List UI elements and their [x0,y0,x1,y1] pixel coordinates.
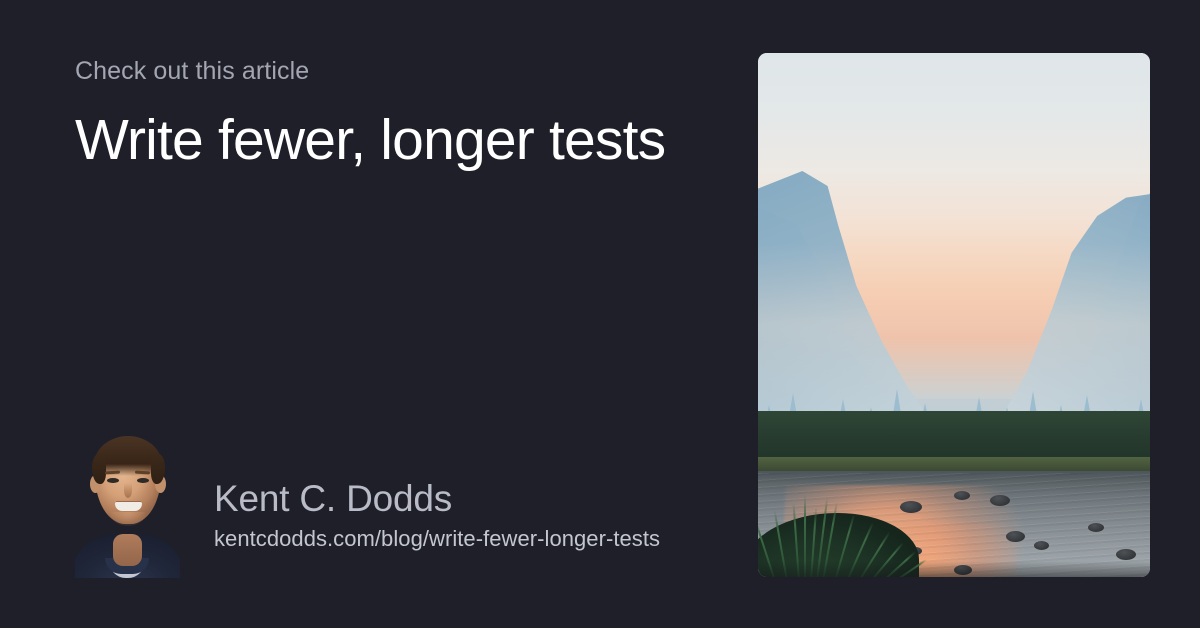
eyebrow-label: Check out this article [75,56,715,87]
author-name: Kent C. Dodds [214,478,660,519]
hero-image [758,53,1150,577]
avatar [75,428,180,578]
river-rock [990,495,1010,506]
social-share-card: Check out this article Write fewer, long… [0,0,1200,628]
portrait-chin [110,512,146,526]
image-bottom-vignette [758,561,1150,577]
portrait-nose [124,483,132,498]
river-rock [954,491,970,500]
portrait-eye-left [107,478,119,483]
river-rock [1116,549,1136,560]
author-portrait-illustration [75,428,180,578]
article-title: Write fewer, longer tests [75,109,715,173]
author-text: Kent C. Dodds kentcdodds.com/blog/write-… [214,478,660,578]
river-rock [1088,523,1104,532]
portrait-eye-right [137,478,149,483]
portrait-neck [113,534,142,566]
river-rock [1006,531,1025,542]
article-text-block: Check out this article Write fewer, long… [75,56,715,173]
portrait-hair-side-left [92,454,106,484]
author-block: Kent C. Dodds kentcdodds.com/blog/write-… [75,428,660,578]
article-url: kentcdodds.com/blog/write-fewer-longer-t… [214,526,660,552]
portrait-mouth [115,502,142,511]
river-rock [1034,541,1049,550]
